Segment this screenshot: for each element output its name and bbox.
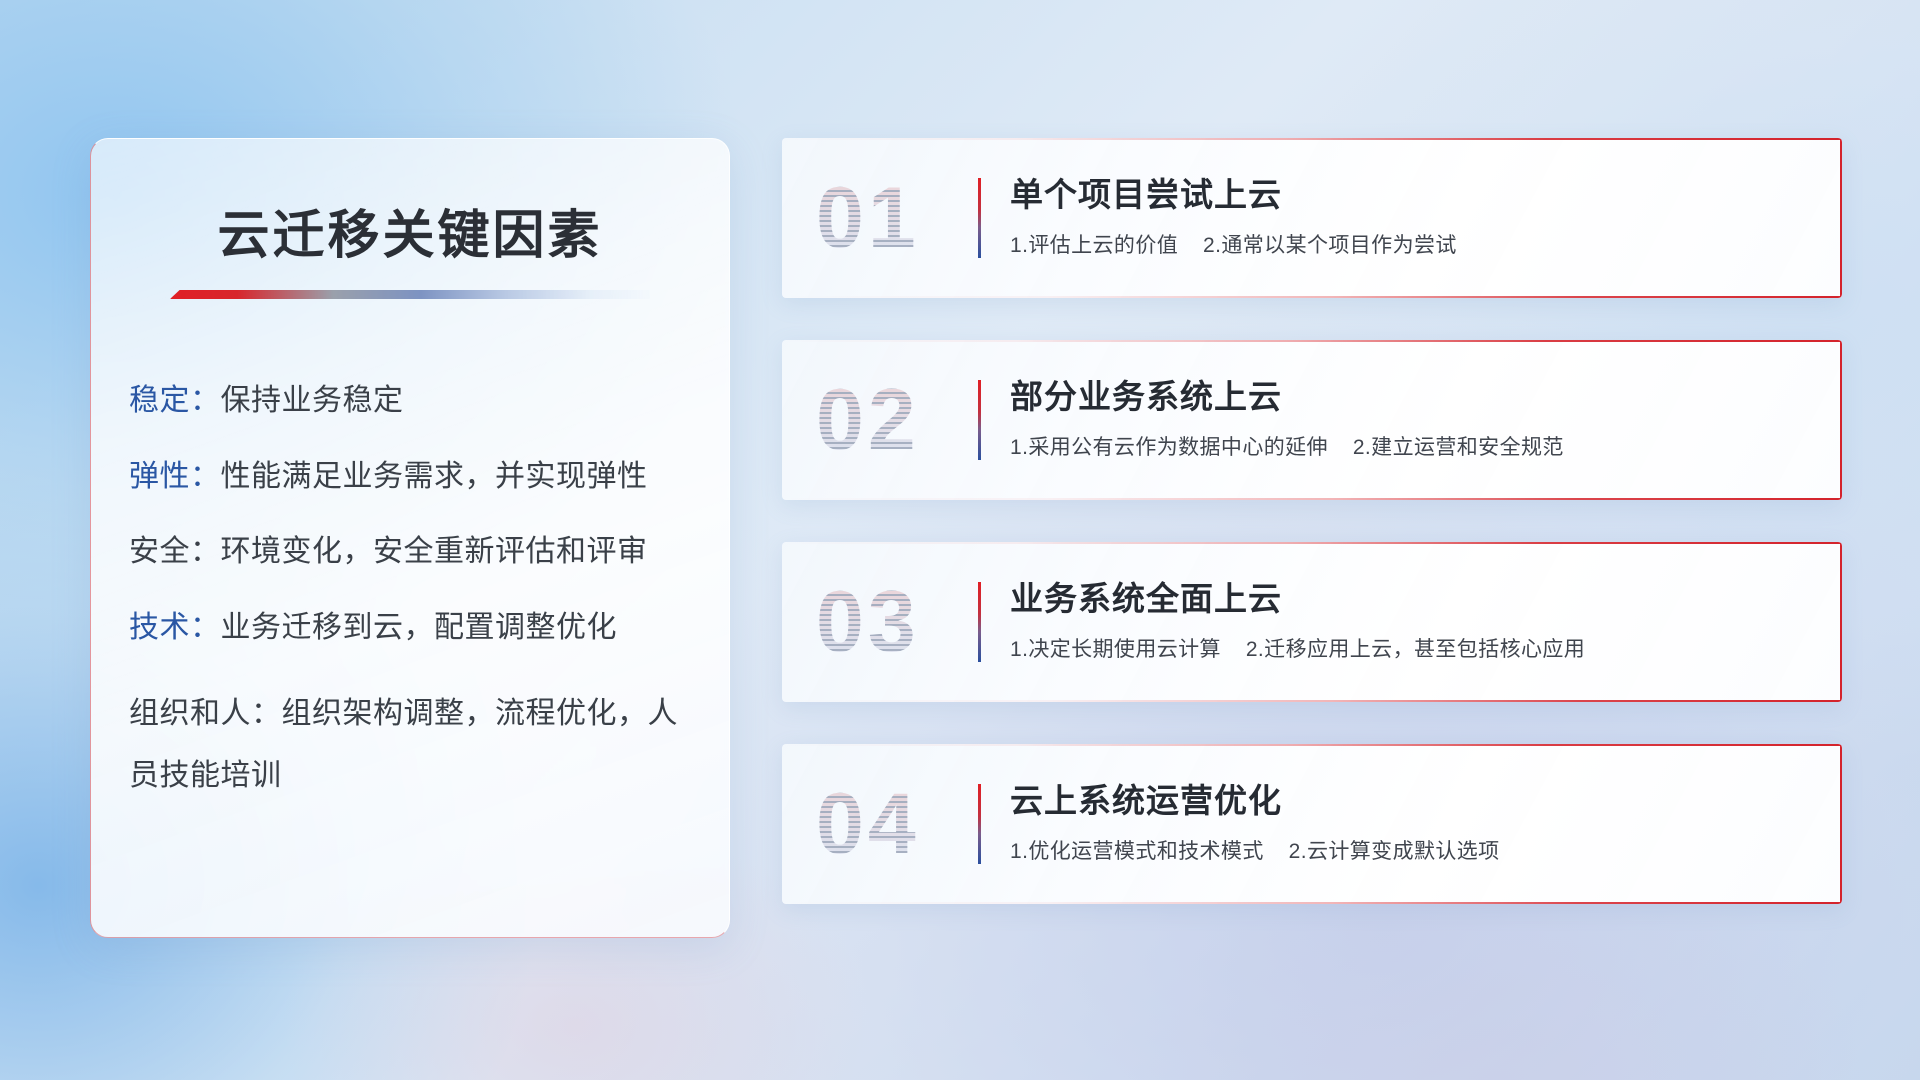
stage-title: 业务系统全面上云 (1010, 578, 1802, 619)
stage-title: 部分业务系统上云 (1010, 376, 1802, 417)
card-edge-accent (1840, 542, 1842, 702)
stage-divider-icon (978, 582, 981, 662)
stage-body: 单个项目尝试上云 1.评估上云的价值 2.通常以某个项目作为尝试 (1010, 174, 1802, 259)
factor-label: 安全： (129, 535, 221, 568)
factor-text: 保持业务稳定 (221, 384, 404, 417)
key-factors-panel: 云迁移关键因素 稳定：保持业务稳定 弹性：性能满足业务需求，并实现弹性 安全：环… (90, 138, 730, 938)
stage-body: 部分业务系统上云 1.采用公有云作为数据中心的延伸 2.建立运营和安全规范 (1010, 376, 1802, 461)
factor-text: 业务迁移到云，配置调整优化 (221, 611, 618, 644)
stage-number-badge: 01 (816, 175, 920, 261)
gradient-rule-icon (170, 290, 650, 299)
key-factors-list: 稳定：保持业务稳定 弹性：性能满足业务需求，并实现弹性 安全：环境变化，安全重新… (129, 381, 729, 806)
stage-divider-icon (978, 784, 981, 864)
factor-label: 稳定： (129, 384, 221, 417)
stage-title: 云上系统运营优化 (1010, 780, 1802, 821)
stage-description: 1.评估上云的价值 2.通常以某个项目作为尝试 (1010, 229, 1802, 259)
stage-number-badge: 03 (816, 579, 920, 665)
factor-text: 环境变化，安全重新评估和评审 (221, 535, 648, 568)
card-edge-accent (1840, 744, 1842, 904)
factor-text: 性能满足业务需求，并实现弹性 (221, 460, 648, 493)
stage-divider-icon (978, 380, 981, 460)
list-item: 技术：业务迁移到云，配置调整优化 (129, 608, 729, 648)
factor-label: 组织和人： (129, 697, 282, 730)
stage-card-04[interactable]: 04 云上系统运营优化 1.优化运营模式和技术模式 2.云计算变成默认选项 (782, 744, 1842, 904)
stage-description: 1.采用公有云作为数据中心的延伸 2.建立运营和安全规范 (1010, 431, 1802, 461)
stage-number-badge: 04 (816, 781, 920, 867)
stage-card-02[interactable]: 02 部分业务系统上云 1.采用公有云作为数据中心的延伸 2.建立运营和安全规范 (782, 340, 1842, 500)
list-item: 弹性：性能满足业务需求，并实现弹性 (129, 457, 729, 497)
migration-stages-list: 01 单个项目尝试上云 1.评估上云的价值 2.通常以某个项目作为尝试 02 部… (782, 138, 1842, 946)
factor-label: 弹性： (129, 460, 221, 493)
stage-card-03[interactable]: 03 业务系统全面上云 1.决定长期使用云计算 2.迁移应用上云，甚至包括核心应… (782, 542, 1842, 702)
factor-label: 技术： (129, 611, 221, 644)
list-item: 稳定：保持业务稳定 (129, 381, 729, 421)
stage-description: 1.决定长期使用云计算 2.迁移应用上云，甚至包括核心应用 (1010, 633, 1802, 663)
card-edge-accent (1840, 340, 1842, 500)
stage-body: 云上系统运营优化 1.优化运营模式和技术模式 2.云计算变成默认选项 (1010, 780, 1802, 865)
list-item: 组织和人：组织架构调整，流程优化，人员技能培训 (129, 683, 689, 806)
page-title: 云迁移关键因素 (91, 193, 729, 268)
stage-card-01[interactable]: 01 单个项目尝试上云 1.评估上云的价值 2.通常以某个项目作为尝试 (782, 138, 1842, 298)
stage-number-badge: 02 (816, 377, 920, 463)
stage-body: 业务系统全面上云 1.决定长期使用云计算 2.迁移应用上云，甚至包括核心应用 (1010, 578, 1802, 663)
stage-description: 1.优化运营模式和技术模式 2.云计算变成默认选项 (1010, 835, 1802, 865)
card-edge-accent (1840, 138, 1842, 298)
list-item: 安全：环境变化，安全重新评估和评审 (129, 532, 729, 572)
stage-title: 单个项目尝试上云 (1010, 174, 1802, 215)
stage-divider-icon (978, 178, 981, 258)
